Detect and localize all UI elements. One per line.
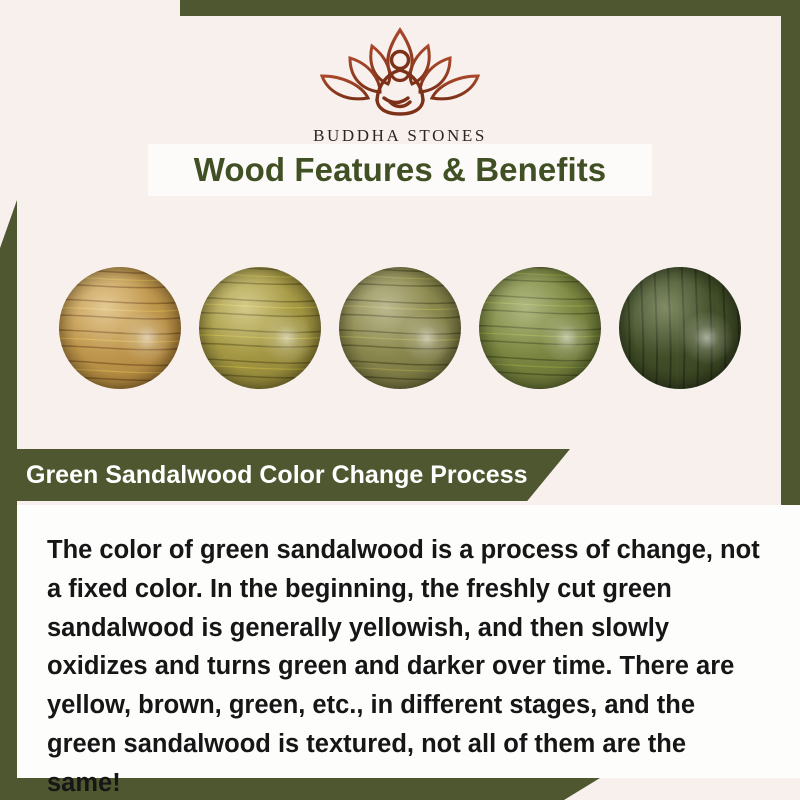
poster-root: BUDDHA STONES Wood Features & Benefits	[0, 0, 800, 800]
bead-stage-5	[619, 267, 741, 389]
bead-shading	[479, 267, 601, 389]
section-body-text: The color of green sandalwood is a proce…	[17, 505, 800, 800]
page-title: Wood Features & Benefits	[194, 151, 607, 189]
title-banner: Wood Features & Benefits	[148, 144, 652, 196]
lotus-meditation-icon	[306, 24, 494, 122]
bead-shading	[199, 267, 321, 389]
bead-shading	[59, 267, 181, 389]
bead-stage-2	[199, 267, 321, 389]
frame-top-band	[180, 0, 800, 16]
bead-stage-1	[59, 267, 181, 389]
brand-name: BUDDHA STONES	[0, 126, 800, 146]
bead-shading	[619, 267, 741, 389]
section-banner: Green Sandalwood Color Change Process	[0, 449, 570, 501]
bead-gallery	[0, 258, 800, 398]
brand-logo: BUDDHA STONES	[0, 24, 800, 146]
bead-shading	[339, 267, 461, 389]
section-heading: Green Sandalwood Color Change Process	[26, 461, 528, 490]
bead-stage-4	[479, 267, 601, 389]
section-text-panel: The color of green sandalwood is a proce…	[17, 505, 800, 778]
bead-stage-3	[339, 267, 461, 389]
